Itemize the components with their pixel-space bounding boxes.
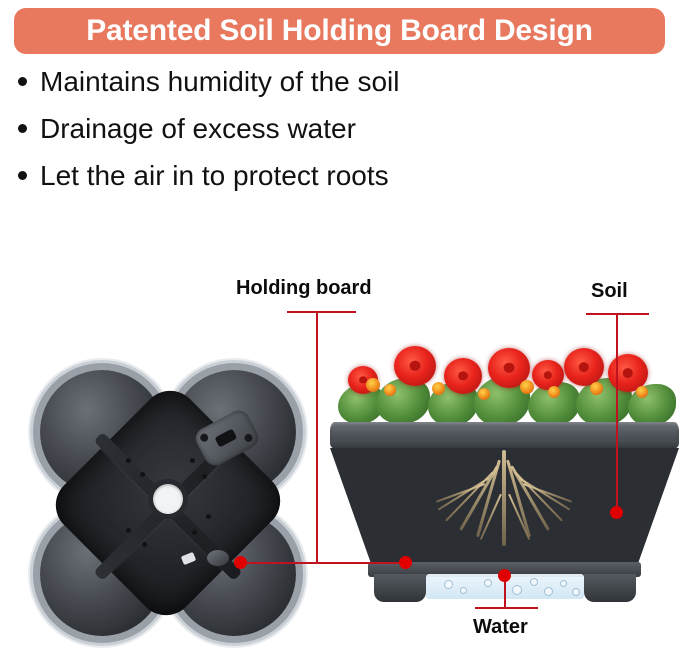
page-title: Patented Soil Holding Board Design <box>86 16 593 46</box>
flower-bud <box>590 382 603 395</box>
board-clip <box>207 550 229 566</box>
water-bubble <box>484 579 492 587</box>
planter-rim-underside <box>330 440 679 449</box>
leader-line-soil <box>616 313 618 516</box>
callout-label-water: Water <box>473 617 528 637</box>
board-vent-hole <box>140 472 145 477</box>
leader-line-water <box>504 578 506 608</box>
bullet-dot-icon <box>18 124 27 133</box>
flower-bud <box>548 386 560 398</box>
flower-bud <box>636 386 648 398</box>
marker-dot-holding-board-left <box>234 556 247 569</box>
planter-cross-section <box>330 338 679 593</box>
root-system <box>330 450 679 564</box>
feature-bullet-list: Maintains humidity of the soil Drainage … <box>18 68 538 209</box>
water-bubble <box>460 587 467 594</box>
soil-holding-board-top-view <box>22 362 312 647</box>
marker-dot-holding-board-right <box>399 556 412 569</box>
chrysanthemum-bloom <box>444 358 482 394</box>
board-vent-hole <box>192 530 197 535</box>
board-vent-hole <box>190 458 195 463</box>
board-fitting-slot <box>214 428 237 447</box>
flower-bud <box>432 382 445 395</box>
flower-bud <box>384 384 396 396</box>
chrysanthemum-bloom <box>564 348 604 386</box>
leader-bar-water <box>475 607 538 609</box>
board-fitting-hole <box>243 432 254 443</box>
water-bubble <box>544 587 553 596</box>
water-bubble <box>530 578 538 586</box>
list-item: Drainage of excess water <box>18 115 538 162</box>
list-item: Let the air in to protect roots <box>18 162 538 209</box>
list-item: Maintains humidity of the soil <box>18 68 538 115</box>
root-strand <box>502 450 506 546</box>
callout-label-soil: Soil <box>591 281 628 301</box>
header-banner: Patented Soil Holding Board Design <box>14 8 665 54</box>
callout-label-holding-board: Holding board <box>236 278 372 298</box>
leader-line-holding-board-horizontal <box>240 562 412 564</box>
board-vent-hole <box>126 528 131 533</box>
water-bubble <box>444 580 453 589</box>
flower-bud <box>478 388 490 400</box>
planter-foot-left <box>374 574 426 602</box>
chrysanthemum-bloom <box>532 360 564 390</box>
flower-bud <box>366 378 380 392</box>
board-vent-hole <box>142 542 147 547</box>
list-item-label: Drainage of excess water <box>40 115 356 143</box>
flower-cluster <box>332 338 677 430</box>
marker-dot-water <box>498 569 511 582</box>
list-item-label: Let the air in to protect roots <box>40 162 389 190</box>
water-bubble <box>572 588 580 596</box>
bullet-dot-icon <box>18 171 27 180</box>
water-bubble <box>512 585 522 595</box>
board-fitting-hole <box>199 432 210 443</box>
water-bubble <box>560 580 567 587</box>
planter-foot-right <box>584 574 636 602</box>
leader-line-holding-board <box>316 311 318 563</box>
list-item-label: Maintains humidity of the soil <box>40 68 400 96</box>
bullet-dot-icon <box>18 77 27 86</box>
board-vent-hole <box>206 514 211 519</box>
board-vent-hole <box>126 458 131 463</box>
leader-bar-holding-board <box>287 311 356 313</box>
board-vent-hole <box>202 474 207 479</box>
chrysanthemum-bloom <box>394 346 436 386</box>
board-center-hole <box>153 484 183 514</box>
flower-bud <box>520 380 534 394</box>
marker-dot-soil <box>610 506 623 519</box>
